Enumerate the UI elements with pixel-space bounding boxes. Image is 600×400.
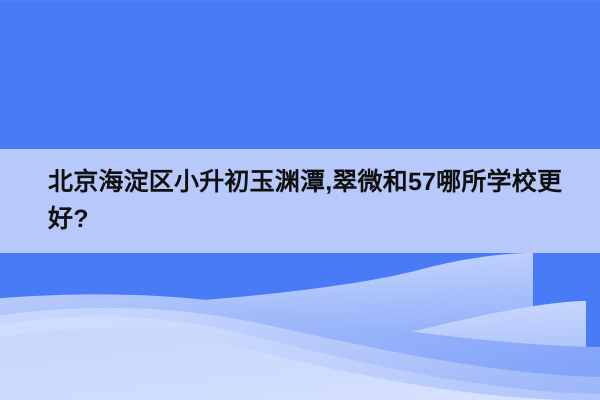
- top-blue-field: [0, 0, 600, 149]
- title-band: 北京海淀区小升初玉渊潭,翠微和57哪所学校更好?: [0, 149, 600, 253]
- top-edge-highlight: [0, 0, 600, 2]
- wave-graphic-svg: [0, 253, 600, 400]
- page-title: 北京海淀区小升初玉渊潭,翠微和57哪所学校更好?: [0, 164, 600, 238]
- banner-card: 北京海淀区小升初玉渊潭,翠微和57哪所学校更好?: [0, 0, 600, 400]
- wave-decoration: [0, 253, 600, 400]
